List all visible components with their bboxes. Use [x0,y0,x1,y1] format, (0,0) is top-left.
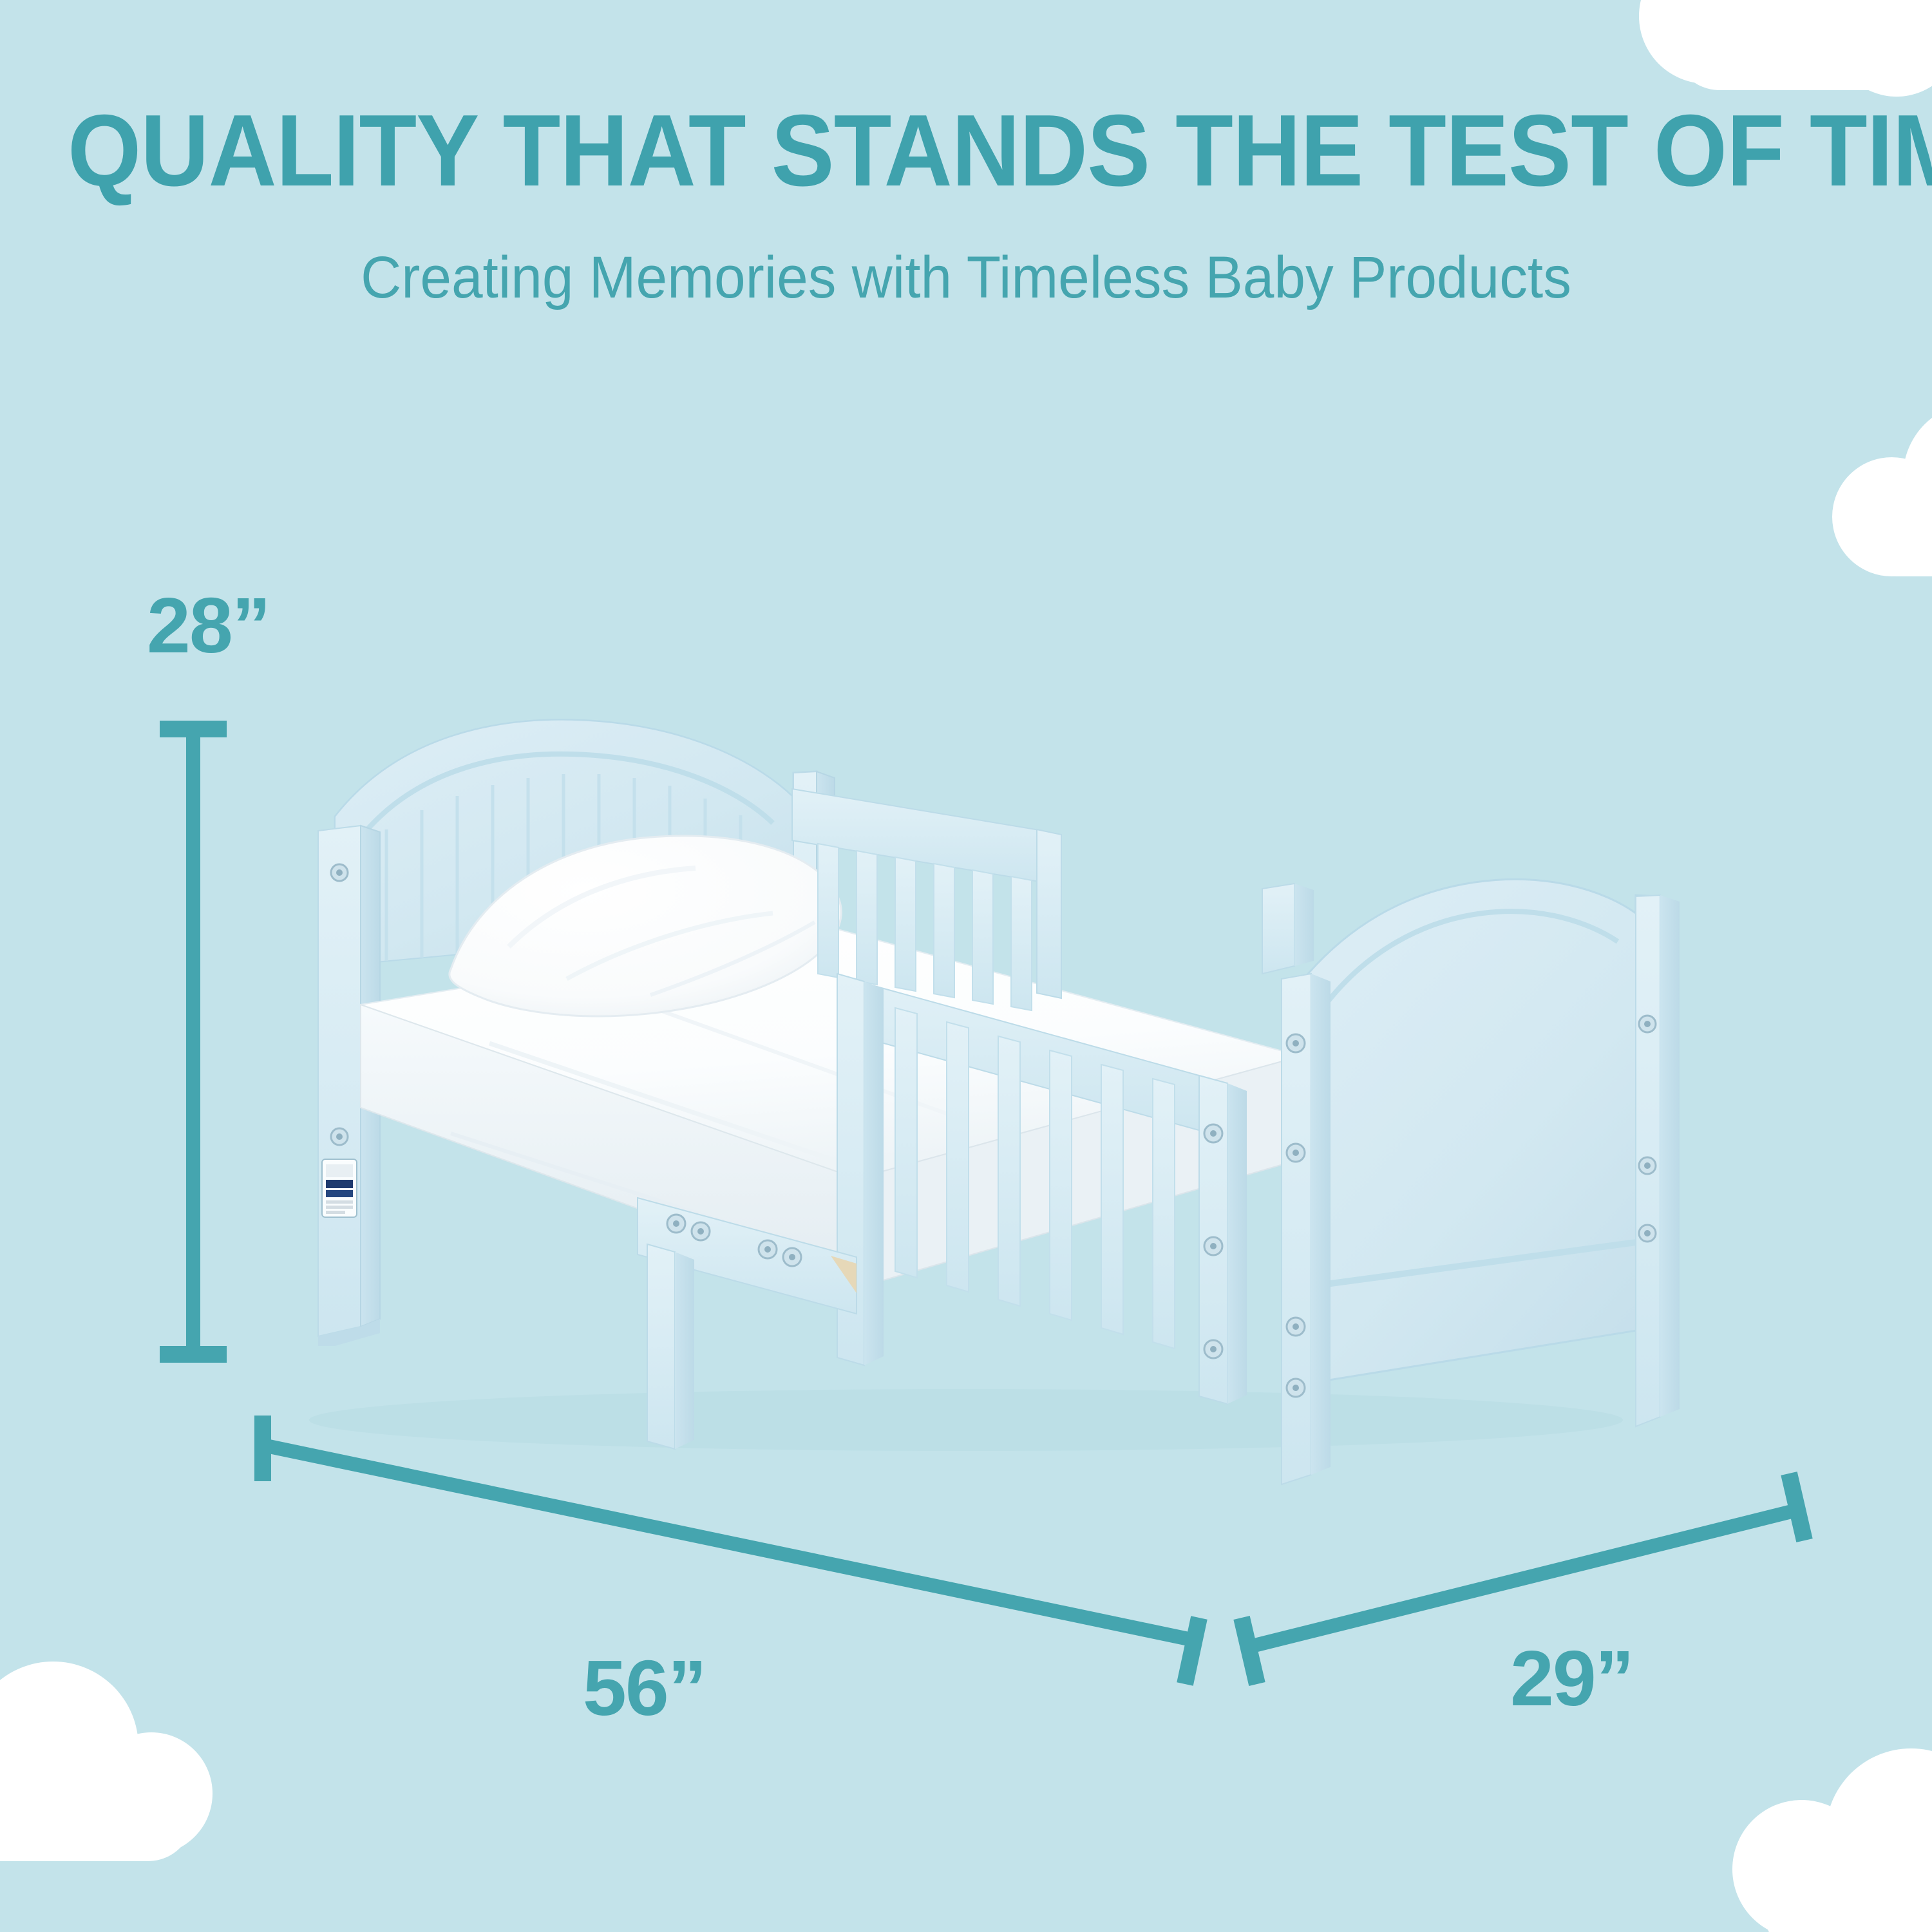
dimension-label-length: 56” [583,1649,706,1727]
jpma-certified-sticker [322,1159,357,1217]
infographic-canvas: QUALITY THAT STANDS THE TEST OF TIME Cre… [0,0,1932,1932]
toddler-bed-illustration [0,0,1932,1932]
dimension-line-height [160,728,227,1356]
dimension-label-width: 29” [1510,1639,1633,1718]
footboard [1262,879,1680,1484]
dimension-label-height: 28” [147,586,270,665]
dimension-line-length [263,1416,1199,1684]
